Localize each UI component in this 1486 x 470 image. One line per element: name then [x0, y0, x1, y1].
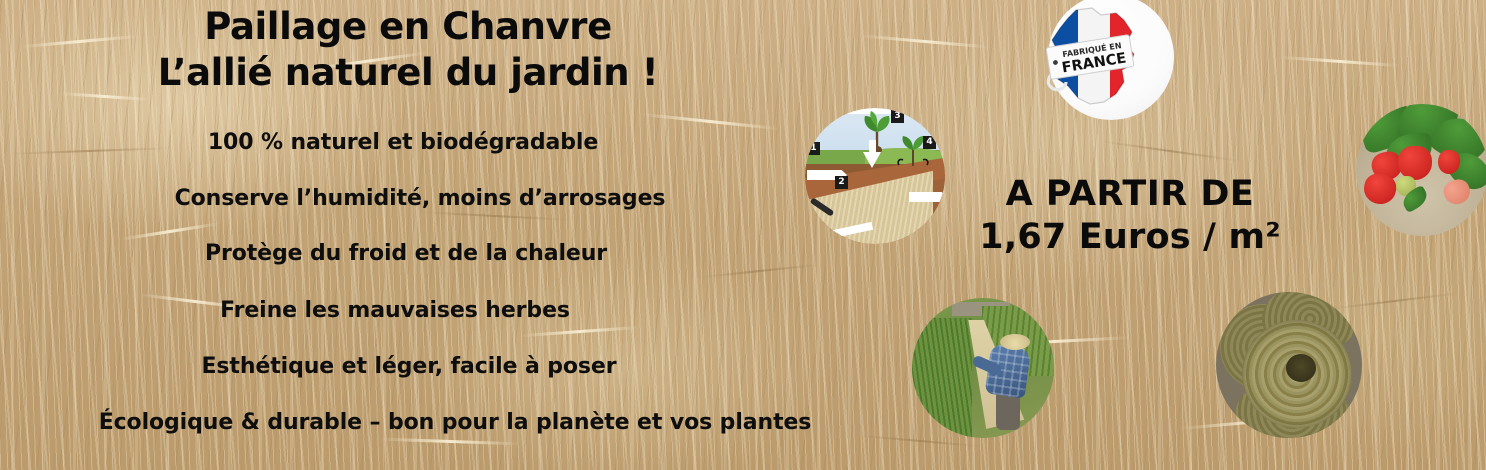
gardener-laying-mulch-photo — [912, 298, 1054, 438]
gardener-straw-hat — [1000, 334, 1030, 350]
diagram-step-4: 4 — [923, 136, 936, 149]
price-amount: 1,67 Euros / m² — [940, 219, 1320, 256]
diagram-step-3: 3 — [891, 110, 904, 123]
diagram-disc: 1 2 3 4 — [805, 108, 945, 244]
benefit-item-2: Conserve l’humidité, moins d’arrosages — [0, 188, 840, 210]
diagram-down-arrow — [863, 152, 881, 168]
benefit-item-3: Protège du froid et de la chaleur — [0, 243, 812, 265]
installation-diagram: 1 2 3 4 — [805, 108, 945, 244]
headline-line-1: Paillage en Chanvre — [0, 8, 816, 45]
promo-banner: Paillage en Chanvre L’allié naturel du j… — [0, 0, 1486, 470]
diagram-step-1: 1 — [807, 142, 820, 155]
strawberries-photo — [1356, 104, 1486, 236]
garden-weeds-left — [912, 318, 972, 438]
text-column: Paillage en Chanvre L’allié naturel du j… — [0, 0, 880, 470]
headline-line-2: L’allié naturel du jardin ! — [0, 54, 816, 91]
benefit-item-1: 100 % naturel et biodégradable — [0, 132, 806, 154]
diagram-swoosh-right — [909, 192, 945, 202]
made-in-france-badge: FABRIQUÉ EN FRANCE — [1030, 0, 1192, 120]
benefit-item-5: Esthétique et léger, facile à poser — [0, 356, 818, 378]
price-block: A PARTIR DE 1,67 Euros / m² — [940, 176, 1320, 256]
benefit-item-6: Écologique & durable – bon pour la planè… — [0, 412, 910, 434]
benefit-item-4: Freine les mauvaises herbes — [0, 300, 790, 322]
price-prefix: A PARTIR DE — [940, 176, 1320, 213]
diagram-step-2: 2 — [835, 176, 848, 189]
hemp-mulch-rolls-photo — [1216, 292, 1362, 438]
hemp-roll-core — [1286, 354, 1316, 382]
diagram-plant-icon — [859, 110, 895, 154]
